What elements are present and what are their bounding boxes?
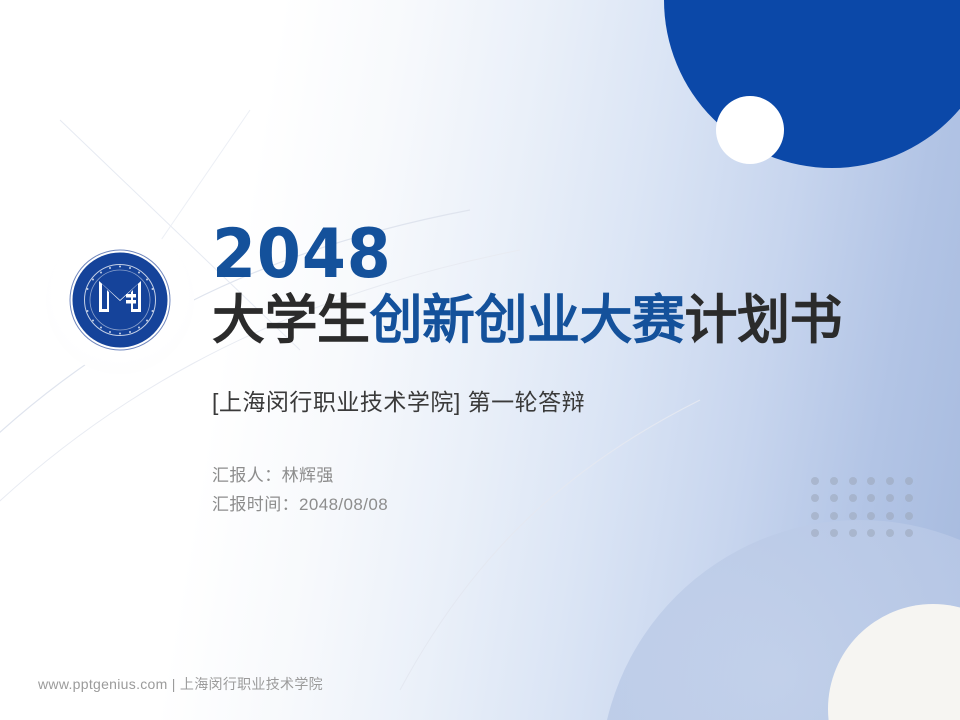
year-heading: 2048 — [212, 224, 863, 287]
headline-part-2: 创新创业大赛 — [370, 291, 685, 350]
main-headline: 大学生创新创业大赛计划书 — [212, 293, 912, 349]
presenter-line: 汇报人：林辉强 — [212, 461, 912, 490]
footer-text: www.pptgenius.com | 上海闵行职业技术学院 — [38, 674, 323, 694]
school-logo-emblem-icon — [74, 254, 166, 346]
title-content-block: 2048 大学生创新创业大赛计划书 [上海闵行职业技术学院] 第一轮答辩 汇报人… — [212, 224, 912, 519]
headline-part-3: 计划书 — [685, 291, 843, 350]
presentation-meta: 汇报人：林辉强 汇报时间：2048/08/08 — [212, 461, 912, 519]
school-logo — [46, 226, 194, 374]
date-line: 汇报时间：2048/08/08 — [212, 490, 912, 519]
presentation-title-slide: 2048 大学生创新创业大赛计划书 [上海闵行职业技术学院] 第一轮答辩 汇报人… — [0, 0, 960, 720]
school-logo-seal — [74, 254, 166, 346]
subtitle: [上海闵行职业技术学院] 第一轮答辩 — [212, 383, 912, 417]
headline-part-1: 大学生 — [212, 291, 370, 350]
